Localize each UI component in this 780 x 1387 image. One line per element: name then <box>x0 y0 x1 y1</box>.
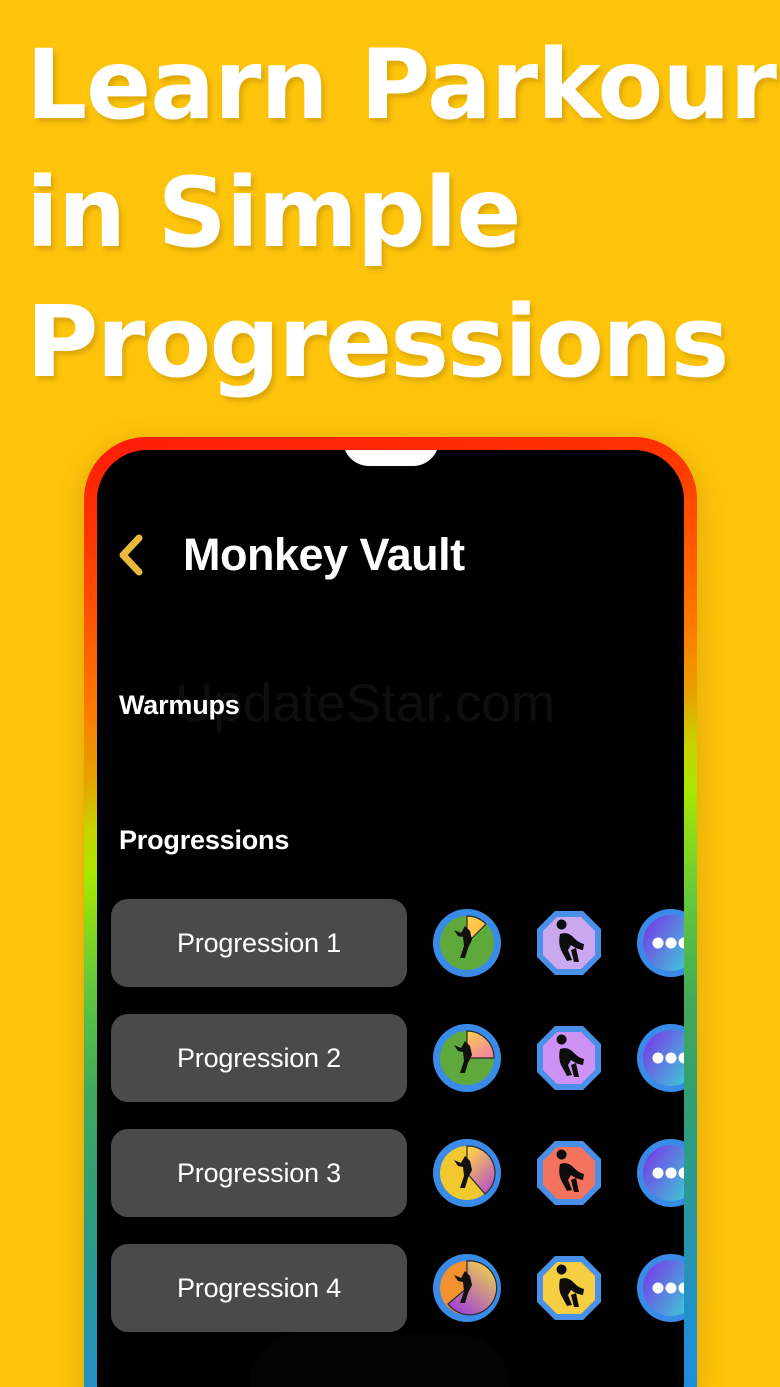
progression-button[interactable]: Progression 1 <box>111 899 407 987</box>
headline-line-1: Learn Parkour <box>26 22 758 150</box>
difficulty-gauge-icon[interactable] <box>430 1251 504 1325</box>
section-heading-warmups: Warmups <box>119 690 240 721</box>
chevron-left-icon <box>117 534 143 576</box>
progression-label: Progression 2 <box>177 1043 341 1074</box>
difficulty-gauge-icon[interactable] <box>430 1136 504 1210</box>
headline-line-3: Progressions <box>26 277 758 409</box>
progression-row: Progression 3 <box>97 1125 684 1221</box>
headline-line-2: in Simple <box>26 150 758 278</box>
progression-row: Progression 1 <box>97 895 684 991</box>
phone-notch <box>343 450 439 466</box>
progression-label: Progression 3 <box>177 1158 341 1189</box>
exercise-badge-icon[interactable] <box>532 906 606 980</box>
more-options-icon[interactable] <box>634 906 684 980</box>
progression-label: Progression 1 <box>177 928 341 959</box>
back-button[interactable] <box>103 534 157 576</box>
difficulty-gauge-icon[interactable] <box>430 1021 504 1095</box>
exercise-badge-icon[interactable] <box>532 1251 606 1325</box>
progression-row: Progression 4 <box>97 1240 684 1336</box>
section-heading-progressions: Progressions <box>119 825 289 856</box>
more-options-icon[interactable] <box>634 1021 684 1095</box>
page-title: Monkey Vault <box>183 529 465 581</box>
phone-mockup: UpdateStar.com Monkey Vault Warmups Prog… <box>84 437 697 1387</box>
progression-list: Progression 1 <box>97 895 684 1355</box>
progression-row: Progression 2 <box>97 1010 684 1106</box>
exercise-badge-icon[interactable] <box>532 1136 606 1210</box>
progression-button[interactable]: Progression 3 <box>111 1129 407 1217</box>
exercise-badge-icon[interactable] <box>532 1021 606 1095</box>
promo-headline: Learn Parkour in Simple Progressions <box>0 0 780 409</box>
progression-label: Progression 4 <box>177 1273 341 1304</box>
progression-button[interactable]: Progression 4 <box>111 1244 407 1332</box>
phone-screen: UpdateStar.com Monkey Vault Warmups Prog… <box>97 450 684 1387</box>
more-options-icon[interactable] <box>634 1136 684 1210</box>
more-options-icon[interactable] <box>634 1251 684 1325</box>
app-bar: Monkey Vault <box>97 520 684 590</box>
difficulty-gauge-icon[interactable] <box>430 906 504 980</box>
progression-button[interactable]: Progression 2 <box>111 1014 407 1102</box>
